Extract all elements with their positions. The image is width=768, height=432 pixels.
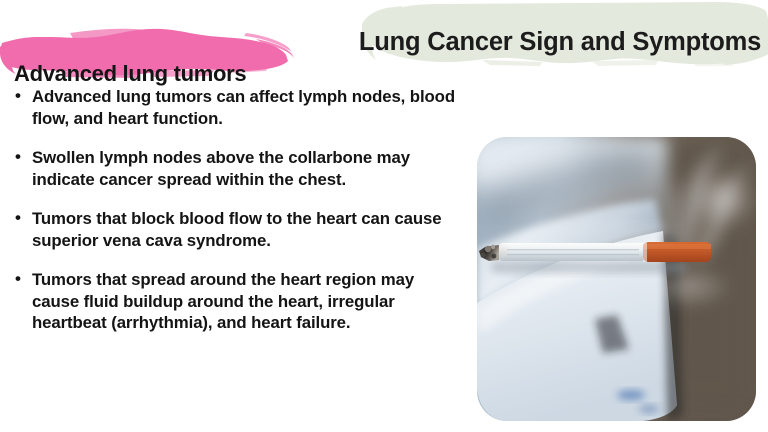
list-item: • Tumors that block blood flow to the he… bbox=[12, 208, 464, 251]
lit-cigarette-photo bbox=[477, 137, 756, 421]
cigarette bbox=[479, 242, 711, 262]
list-item-text: Tumors that block blood flow to the hear… bbox=[32, 209, 442, 250]
list-item: • Swollen lymph nodes above the collarbo… bbox=[12, 147, 464, 190]
bullet-point-icon: • bbox=[15, 268, 21, 290]
section-heading: Advanced lung tumors bbox=[14, 61, 246, 87]
list-item-text: Tumors that spread around the heart regi… bbox=[32, 270, 414, 332]
list-item-text: Swollen lymph nodes above the collarbone… bbox=[32, 148, 410, 189]
bullet-point-icon: • bbox=[15, 207, 21, 229]
symptom-bullet-list: • Advanced lung tumors can affect lymph … bbox=[12, 86, 464, 334]
list-item-text: Advanced lung tumors can affect lymph no… bbox=[32, 87, 455, 128]
list-item: • Tumors that spread around the heart re… bbox=[12, 269, 464, 334]
list-item: • Advanced lung tumors can affect lymph … bbox=[12, 86, 464, 129]
slide-canvas: Lung Cancer Sign and Symptoms Advanced l… bbox=[0, 0, 768, 432]
bullet-point-icon: • bbox=[15, 85, 21, 107]
bullet-point-icon: • bbox=[15, 146, 21, 168]
page-title: Lung Cancer Sign and Symptoms bbox=[352, 28, 768, 57]
